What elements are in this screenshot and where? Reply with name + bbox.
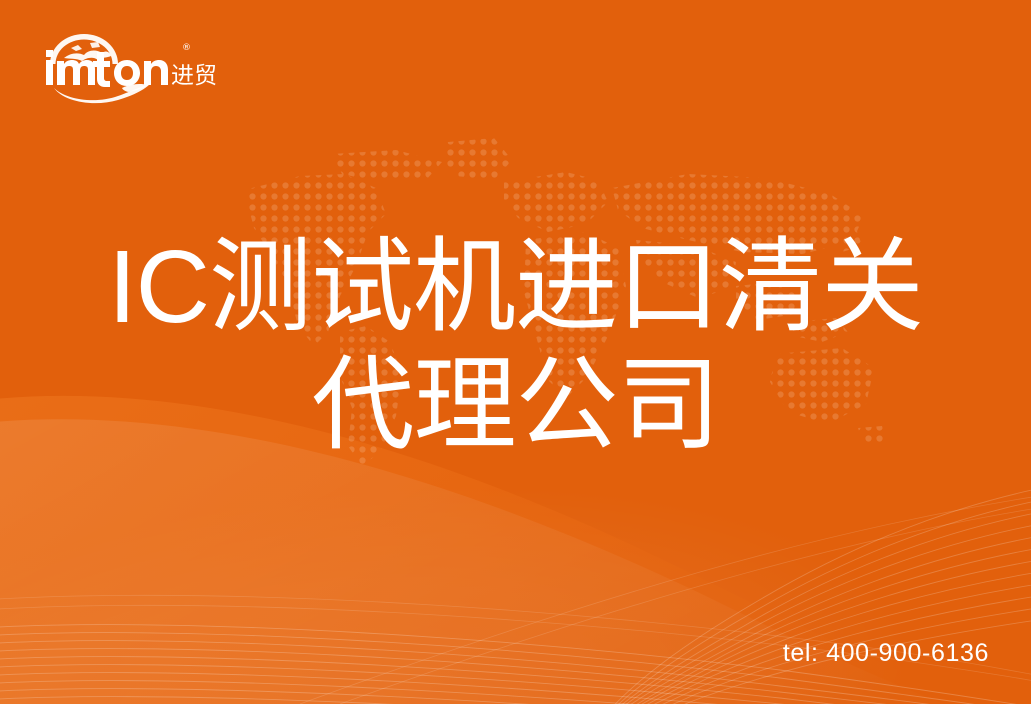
contact-telephone: tel: 400-900-6136 xyxy=(783,639,989,668)
brand-logo[interactable]: 进贸通 ® imton 进贸通 xyxy=(38,28,218,104)
headline-line-1: IC测试机进口清关 xyxy=(0,228,1031,346)
logo-chinese-name: 进贸通 xyxy=(171,63,218,89)
headline-line-2: 代理公司 xyxy=(0,346,1031,464)
poster-canvas: 进贸通 ® imton 进贸通 IC测试机进口清关 代理公司 tel: 400-… xyxy=(0,0,1031,704)
trademark-icon: ® xyxy=(182,43,191,53)
globe-swoosh-logo: 进贸通 ® xyxy=(38,28,218,104)
page-title: IC测试机进口清关 代理公司 xyxy=(0,228,1031,464)
